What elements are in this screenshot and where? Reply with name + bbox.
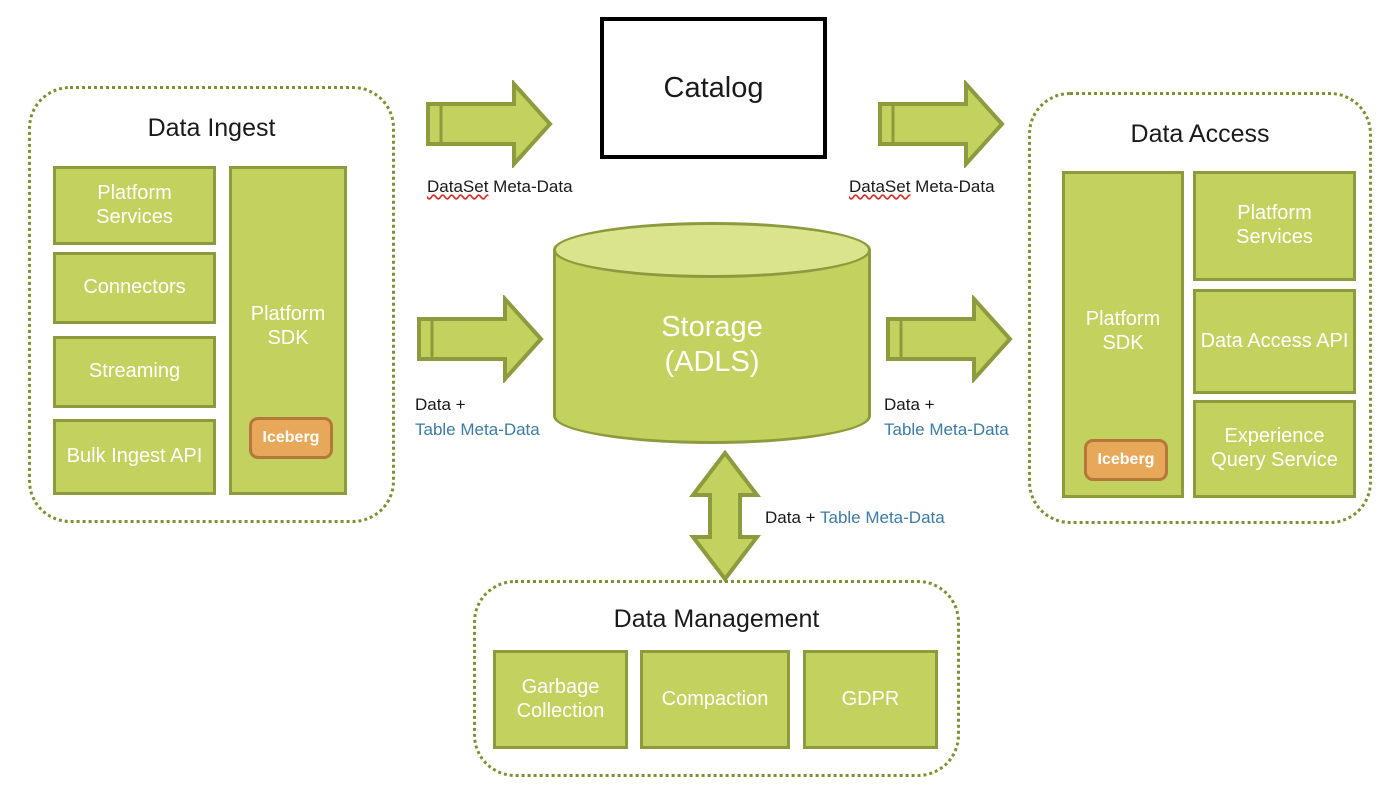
ingest-component-bulk-ingest-api[interactable]: Bulk Ingest API xyxy=(53,419,216,495)
storage-label-line2: (ADLS) xyxy=(553,345,871,380)
arrow-catalog-to-access xyxy=(876,80,1006,168)
catalog-label: Catalog xyxy=(664,72,764,105)
storage-label-line1: Storage xyxy=(553,310,871,345)
architecture-diagram: Data Ingest Platform Services Connectors… xyxy=(0,0,1400,794)
label-line-data-plus: Data + xyxy=(884,393,1009,418)
access-component-label: Data Access API xyxy=(1201,330,1349,354)
label-line-data-plus: Data + xyxy=(415,393,540,418)
panel-data-management-title: Data Management xyxy=(473,605,960,634)
label-ingest-to-catalog: DataSet Meta-Data xyxy=(427,175,573,200)
arrow-ingest-to-storage xyxy=(415,295,545,383)
label-dataset-misspelled: DataSet xyxy=(427,177,488,196)
panel-data-access-title: Data Access xyxy=(1028,120,1372,149)
storage-label: Storage (ADLS) xyxy=(553,310,871,380)
ingest-component-streaming[interactable]: Streaming xyxy=(53,336,216,408)
access-platform-sdk[interactable]: Platform SDK Iceberg xyxy=(1062,171,1184,498)
management-component-label: Garbage Collection xyxy=(500,676,621,723)
access-component-label: Experience Query Service xyxy=(1200,425,1349,472)
access-component-data-access-api[interactable]: Data Access API xyxy=(1193,289,1356,394)
catalog-box[interactable]: Catalog xyxy=(600,17,827,159)
arrow-ingest-to-catalog xyxy=(424,80,554,168)
label-metadata-rest: Meta-Data xyxy=(488,177,572,196)
label-line-table-metadata: Table Meta-Data xyxy=(415,418,540,443)
access-iceberg-badge[interactable]: Iceberg xyxy=(1084,439,1168,481)
label-line-table-metadata: Table Meta-Data xyxy=(884,418,1009,443)
label-metadata-rest: Meta-Data xyxy=(910,177,994,196)
ingest-component-label: Connectors xyxy=(83,276,185,300)
label-storage-to-access: Data + Table Meta-Data xyxy=(884,393,1009,442)
storage-cylinder[interactable]: Storage (ADLS) xyxy=(553,222,871,444)
cylinder-top-ellipse xyxy=(553,222,871,278)
management-component-compaction[interactable]: Compaction xyxy=(640,650,790,749)
ingest-component-platform-services[interactable]: Platform Services xyxy=(53,166,216,245)
ingest-component-label: Streaming xyxy=(89,360,180,384)
arrow-storage-to-access xyxy=(884,295,1014,383)
label-dataset-misspelled: DataSet xyxy=(849,177,910,196)
arrow-storage-to-data-management xyxy=(688,450,762,582)
management-component-gdpr[interactable]: GDPR xyxy=(803,650,938,749)
ingest-platform-sdk[interactable]: Platform SDK Iceberg xyxy=(229,166,347,495)
access-component-label: Platform Services xyxy=(1200,202,1349,249)
label-ingest-to-storage: Data + Table Meta-Data xyxy=(415,393,540,442)
ingest-component-connectors[interactable]: Connectors xyxy=(53,252,216,324)
label-storage-to-data-management: Data + Table Meta-Data xyxy=(765,506,945,531)
access-component-experience-query-service[interactable]: Experience Query Service xyxy=(1193,400,1356,498)
label-table-metadata-blue: Table Meta-Data xyxy=(820,508,945,527)
management-component-garbage-collection[interactable]: Garbage Collection xyxy=(493,650,628,749)
access-component-platform-services[interactable]: Platform Services xyxy=(1193,171,1356,281)
management-component-label: Compaction xyxy=(662,688,769,712)
access-platform-sdk-label: Platform SDK xyxy=(1065,308,1181,355)
label-data-plus-prefix: Data + xyxy=(765,508,820,527)
label-catalog-to-access: DataSet Meta-Data xyxy=(849,175,995,200)
panel-data-ingest-title: Data Ingest xyxy=(28,114,395,143)
ingest-component-label: Platform Services xyxy=(60,182,209,229)
ingest-component-label: Bulk Ingest API xyxy=(67,445,203,469)
ingest-platform-sdk-label: Platform SDK xyxy=(232,303,344,350)
management-component-label: GDPR xyxy=(842,688,900,712)
ingest-iceberg-badge[interactable]: Iceberg xyxy=(249,417,333,459)
